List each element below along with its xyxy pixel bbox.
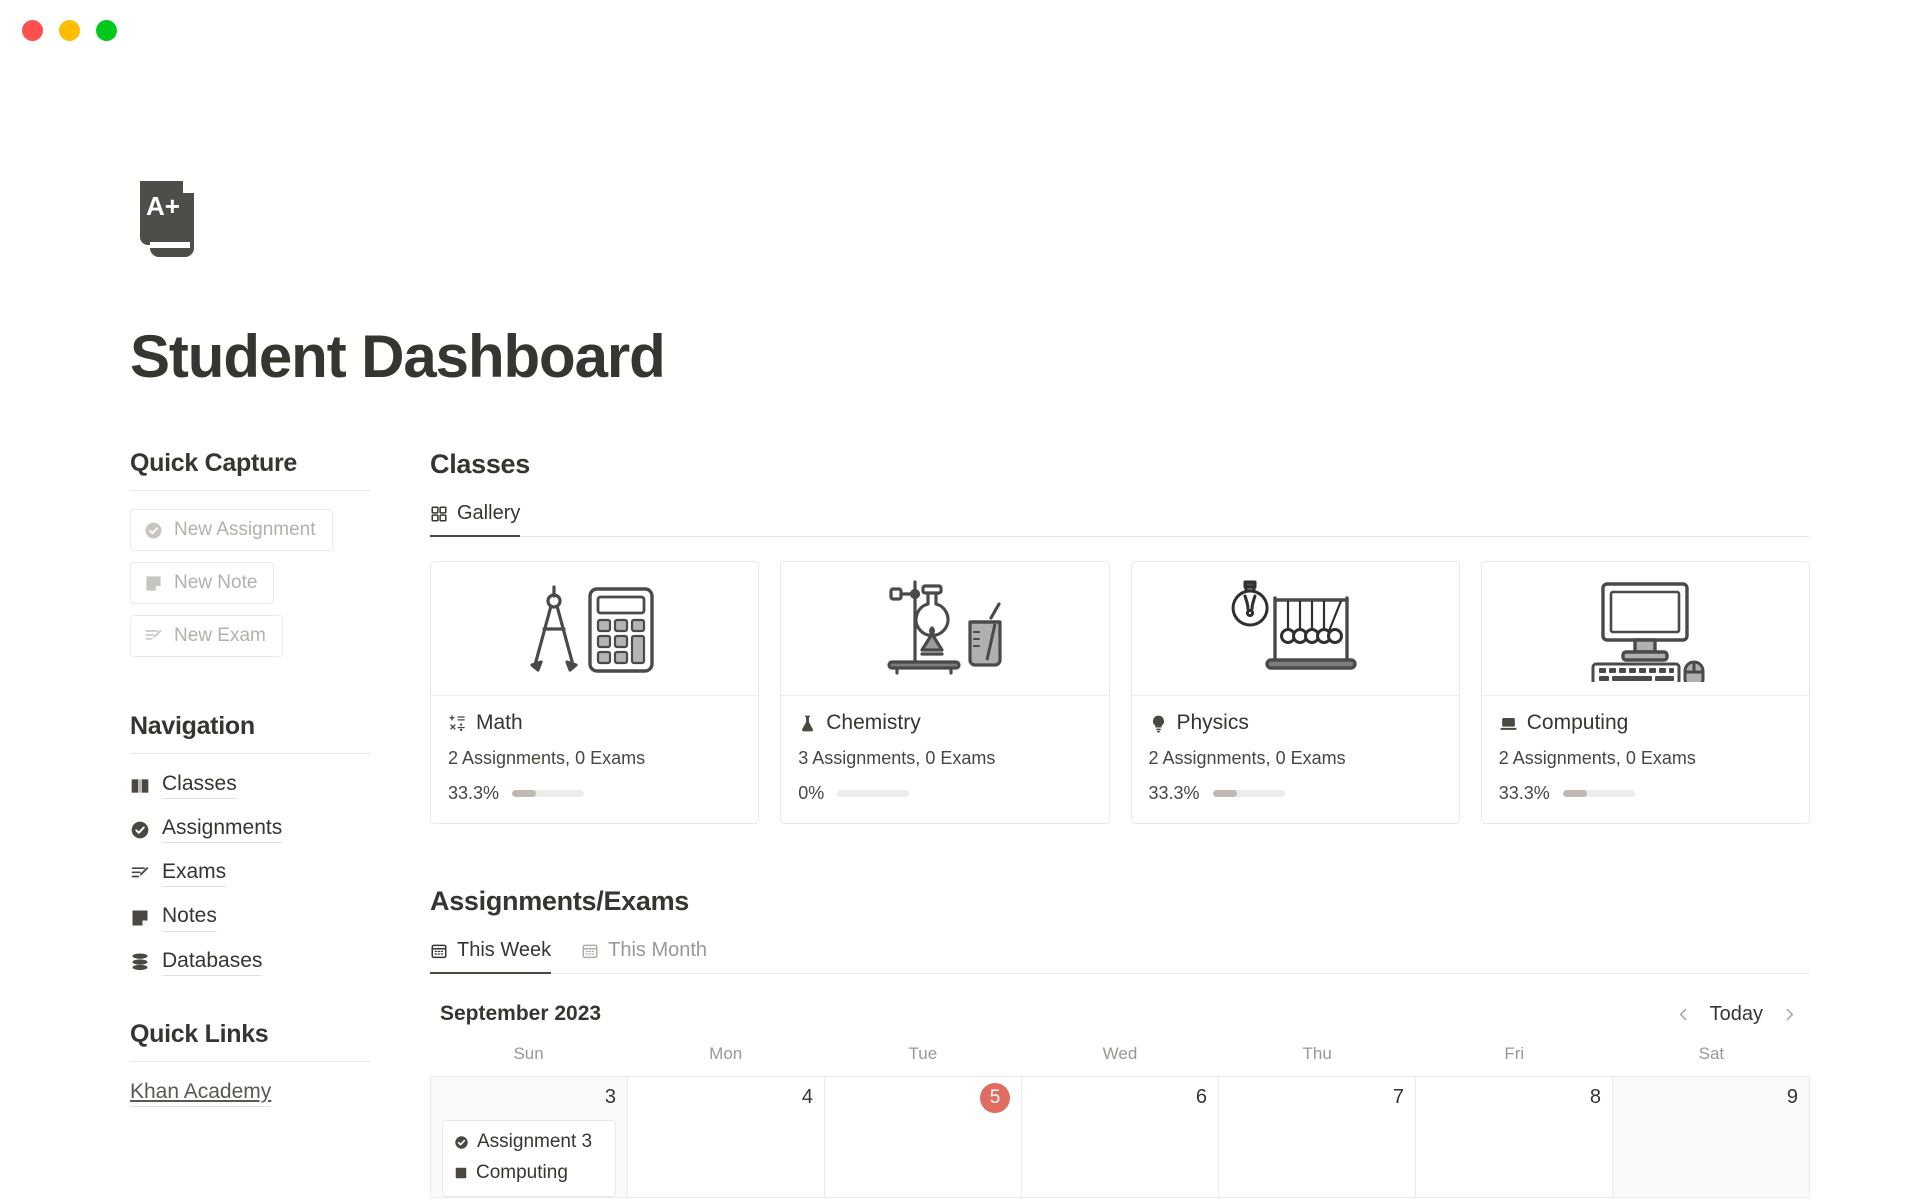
class-summary: 3 Assignments, 0 Exams: [798, 748, 1091, 769]
page-title: Student Dashboard: [130, 322, 1920, 391]
progress-label: 0%: [798, 783, 824, 804]
calendar-icon: [581, 942, 599, 960]
new-exam-button[interactable]: New Exam: [130, 615, 283, 657]
calendar-day-cell[interactable]: 4: [628, 1077, 825, 1198]
day-number: 4: [639, 1086, 813, 1108]
new-note-button[interactable]: New Note: [130, 562, 274, 604]
progress-label: 33.3%: [1499, 783, 1550, 804]
class-cover-computing: [1482, 562, 1809, 696]
calendar-event-card[interactable]: Assignment 3 Computing: [442, 1120, 616, 1197]
sidebar-item-label: Exams: [162, 860, 226, 887]
class-name-row: Computing: [1499, 711, 1792, 735]
event-title-row: Assignment 3: [454, 1131, 604, 1153]
exam-pencil-icon: [130, 864, 150, 884]
close-button[interactable]: [22, 20, 43, 41]
sidebar-item-notes[interactable]: Notes: [130, 904, 370, 931]
day-number: 3: [442, 1086, 616, 1108]
sidebar-item-label: Assignments: [162, 816, 282, 843]
sidebar-item-label: Notes: [162, 904, 217, 931]
class-cover-math: [431, 562, 758, 696]
calendar-day-cell[interactable]: 7: [1219, 1077, 1416, 1198]
progress-bar: [1563, 790, 1635, 797]
class-body-physics: Physics 2 Assignments, 0 Exams 33.3%: [1132, 696, 1459, 823]
tab-label: This Month: [608, 939, 707, 962]
class-name: Math: [476, 711, 523, 735]
weekday-label: Sat: [1613, 1044, 1810, 1076]
lab-stand-beaker-illustration: [875, 576, 1015, 682]
calendar-day-cell-today[interactable]: 5: [825, 1077, 1022, 1198]
sidebar-item-assignments[interactable]: Assignments: [130, 816, 370, 843]
today-button[interactable]: Today: [1710, 1003, 1763, 1026]
event-tag-row: Computing: [454, 1162, 604, 1184]
class-name-row: Math: [448, 711, 741, 735]
assignments-exams-title: Assignments/Exams: [430, 886, 1810, 917]
laptop-icon: [1499, 714, 1518, 733]
day-number: 6: [1033, 1086, 1207, 1108]
divider: [130, 1061, 370, 1062]
divider: [130, 490, 370, 491]
compass-calculator-illustration: [522, 577, 668, 681]
quick-links-section: Quick Links Khan Academy: [130, 1020, 370, 1107]
weekday-label: Thu: [1219, 1044, 1416, 1076]
math-symbols-icon: [448, 714, 467, 733]
class-name: Physics: [1177, 711, 1249, 735]
sidebar-item-classes[interactable]: Classes: [130, 772, 370, 799]
class-progress: 33.3%: [1499, 783, 1792, 804]
class-card-math[interactable]: Math 2 Assignments, 0 Exams 33.3%: [430, 561, 759, 824]
lightbulb-icon: [1149, 714, 1168, 733]
quick-links-heading: Quick Links: [130, 1020, 370, 1061]
class-body-math: Math 2 Assignments, 0 Exams 33.3%: [431, 696, 758, 823]
tab-this-month[interactable]: This Month: [581, 939, 707, 974]
calendar-day-cell[interactable]: 8: [1416, 1077, 1613, 1198]
calendar-header: September 2023 Today: [430, 1002, 1810, 1026]
new-note-label: New Note: [174, 572, 257, 594]
a-plus-book-icon: A+: [130, 180, 204, 258]
class-card-chemistry[interactable]: Chemistry 3 Assignments, 0 Exams 0%: [780, 561, 1109, 824]
day-number: 7: [1230, 1086, 1404, 1108]
classes-section: Classes Gallery: [430, 449, 1810, 824]
class-progress: 33.3%: [448, 783, 741, 804]
class-progress: 33.3%: [1149, 783, 1442, 804]
navigation-heading: Navigation: [130, 712, 370, 753]
class-summary: 2 Assignments, 0 Exams: [1149, 748, 1442, 769]
calendar-day-cell[interactable]: 9: [1613, 1077, 1810, 1198]
maximize-button[interactable]: [96, 20, 117, 41]
check-circle-icon: [144, 521, 163, 540]
desktop-keyboard-mouse-illustration: [1575, 576, 1715, 682]
assignments-tabbar: This Week This Month: [430, 939, 1810, 974]
class-body-computing: Computing 2 Assignments, 0 Exams 33.3%: [1482, 696, 1809, 823]
class-name-row: Physics: [1149, 711, 1442, 735]
chevron-right-icon[interactable]: [1781, 1006, 1798, 1023]
class-cover-chemistry: [781, 562, 1108, 696]
class-card-grid: Math 2 Assignments, 0 Exams 33.3%: [430, 561, 1810, 824]
class-name: Chemistry: [826, 711, 921, 735]
day-number: 8: [1427, 1086, 1601, 1108]
weekday-label: Wed: [1021, 1044, 1218, 1076]
chevron-left-icon[interactable]: [1675, 1006, 1692, 1023]
class-name-row: Chemistry: [798, 711, 1091, 735]
exam-pencil-icon: [144, 627, 163, 646]
class-summary: 2 Assignments, 0 Exams: [1499, 748, 1792, 769]
bulb-newtons-cradle-illustration: [1223, 576, 1367, 682]
check-circle-icon: [130, 820, 150, 840]
divider: [130, 753, 370, 754]
page-icon: A+: [130, 180, 204, 258]
classes-title: Classes: [430, 449, 1810, 480]
progress-label: 33.3%: [1149, 783, 1200, 804]
weekday-label: Sun: [430, 1044, 627, 1076]
calendar-icon: [430, 942, 448, 960]
tab-gallery[interactable]: Gallery: [430, 502, 520, 537]
class-body-chemistry: Chemistry 3 Assignments, 0 Exams 0%: [781, 696, 1108, 823]
weekday-label: Mon: [627, 1044, 824, 1076]
calendar-month-label: September 2023: [440, 1002, 601, 1026]
event-tag: Computing: [476, 1162, 568, 1184]
quick-capture-section: Quick Capture New Assignment: [130, 449, 370, 668]
tag-square-icon: [454, 1166, 468, 1180]
progress-label: 33.3%: [448, 783, 499, 804]
class-name: Computing: [1527, 711, 1629, 735]
check-circle-icon: [454, 1135, 469, 1150]
quick-link-khan-academy[interactable]: Khan Academy: [130, 1080, 271, 1107]
class-cover-physics: [1132, 562, 1459, 696]
note-icon: [144, 574, 163, 593]
window-controls: [22, 20, 117, 41]
minimize-button[interactable]: [59, 20, 80, 41]
new-assignment-label: New Assignment: [174, 519, 316, 541]
event-title: Assignment 3: [477, 1131, 592, 1153]
sidebar-item-label: Databases: [162, 949, 262, 976]
progress-bar: [512, 790, 584, 797]
tab-this-week[interactable]: This Week: [430, 939, 551, 974]
day-number-today: 5: [980, 1083, 1010, 1113]
sidebar-item-databases[interactable]: Databases: [130, 949, 370, 976]
calendar-week-grid: 3 Assignment 3: [430, 1076, 1810, 1198]
database-icon: [130, 952, 150, 972]
calendar-weekday-header: Sun Mon Tue Wed Thu Fri Sat: [430, 1044, 1810, 1076]
tab-label: This Week: [457, 939, 551, 962]
window-titlebar: [0, 0, 1920, 60]
gallery-grid-icon: [430, 505, 448, 523]
tab-label: Gallery: [457, 502, 520, 525]
quick-capture-heading: Quick Capture: [130, 449, 370, 490]
sidebar-item-exams[interactable]: Exams: [130, 860, 370, 887]
page-root: A+ Student Dashboard Quick Capture New A…: [0, 180, 1920, 1198]
progress-bar: [1213, 790, 1285, 797]
book-icon: [130, 776, 150, 796]
progress-bar: [837, 790, 909, 797]
class-progress: 0%: [798, 783, 1091, 804]
main-content: Classes Gallery: [430, 449, 1920, 1198]
assignments-exams-section: Assignments/Exams This Week This Month: [430, 886, 1810, 1198]
navigation-section: Navigation Classes Assignments: [130, 712, 370, 976]
svg-text:A+: A+: [146, 191, 180, 221]
calendar-day-cell[interactable]: 6: [1022, 1077, 1219, 1198]
calendar-day-cell[interactable]: 3 Assignment 3: [431, 1077, 628, 1198]
flask-icon: [798, 714, 817, 733]
sidebar-item-label: Classes: [162, 772, 237, 799]
class-card-physics[interactable]: Physics 2 Assignments, 0 Exams 33.3%: [1131, 561, 1460, 824]
note-icon: [130, 908, 150, 928]
class-summary: 2 Assignments, 0 Exams: [448, 748, 741, 769]
new-exam-label: New Exam: [174, 625, 266, 647]
classes-tabbar: Gallery: [430, 502, 1810, 537]
weekday-label: Fri: [1416, 1044, 1613, 1076]
new-assignment-button[interactable]: New Assignment: [130, 509, 333, 551]
sidebar: Quick Capture New Assignment: [130, 449, 430, 1198]
weekday-label: Tue: [824, 1044, 1021, 1076]
class-card-computing[interactable]: Computing 2 Assignments, 0 Exams 33.3%: [1481, 561, 1810, 824]
day-number: 9: [1624, 1086, 1798, 1108]
calendar-nav: Today: [1675, 1003, 1798, 1026]
